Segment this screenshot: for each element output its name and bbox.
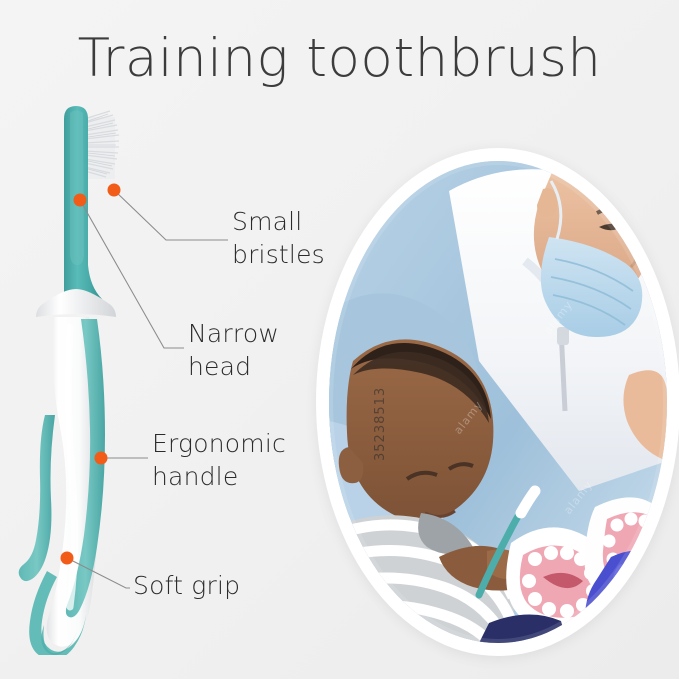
callout-ergonomic-line1: Ergonomic bbox=[152, 428, 286, 461]
callout-soft-grip: Soft grip bbox=[133, 570, 240, 603]
callout-small-bristles: Small bristles bbox=[232, 206, 325, 271]
photo-circle: 35238513 alamy alamy alamy alamy bbox=[316, 148, 679, 656]
callout-soft-grip-line1: Soft grip bbox=[133, 570, 240, 603]
callout-small-bristles-line2: bristles bbox=[232, 239, 325, 272]
poster-canvas: Training toothbrush bbox=[0, 0, 679, 679]
page-title: Training toothbrush bbox=[0, 28, 679, 89]
callout-small-bristles-line1: Small bbox=[232, 206, 325, 239]
photo-clip: 35238513 alamy alamy alamy alamy bbox=[329, 161, 667, 643]
photo-watermark-id: 35238513 bbox=[373, 387, 388, 461]
callout-narrow-head: Narrow head bbox=[188, 318, 279, 383]
handle-grip-left bbox=[19, 415, 55, 581]
callout-ergonomic-line2: handle bbox=[152, 461, 286, 494]
callout-narrow-head-line1: Narrow bbox=[188, 318, 279, 351]
callout-ergonomic-handle: Ergonomic handle bbox=[152, 428, 286, 493]
handle-collar bbox=[36, 289, 116, 317]
callout-narrow-head-line2: head bbox=[188, 351, 279, 384]
